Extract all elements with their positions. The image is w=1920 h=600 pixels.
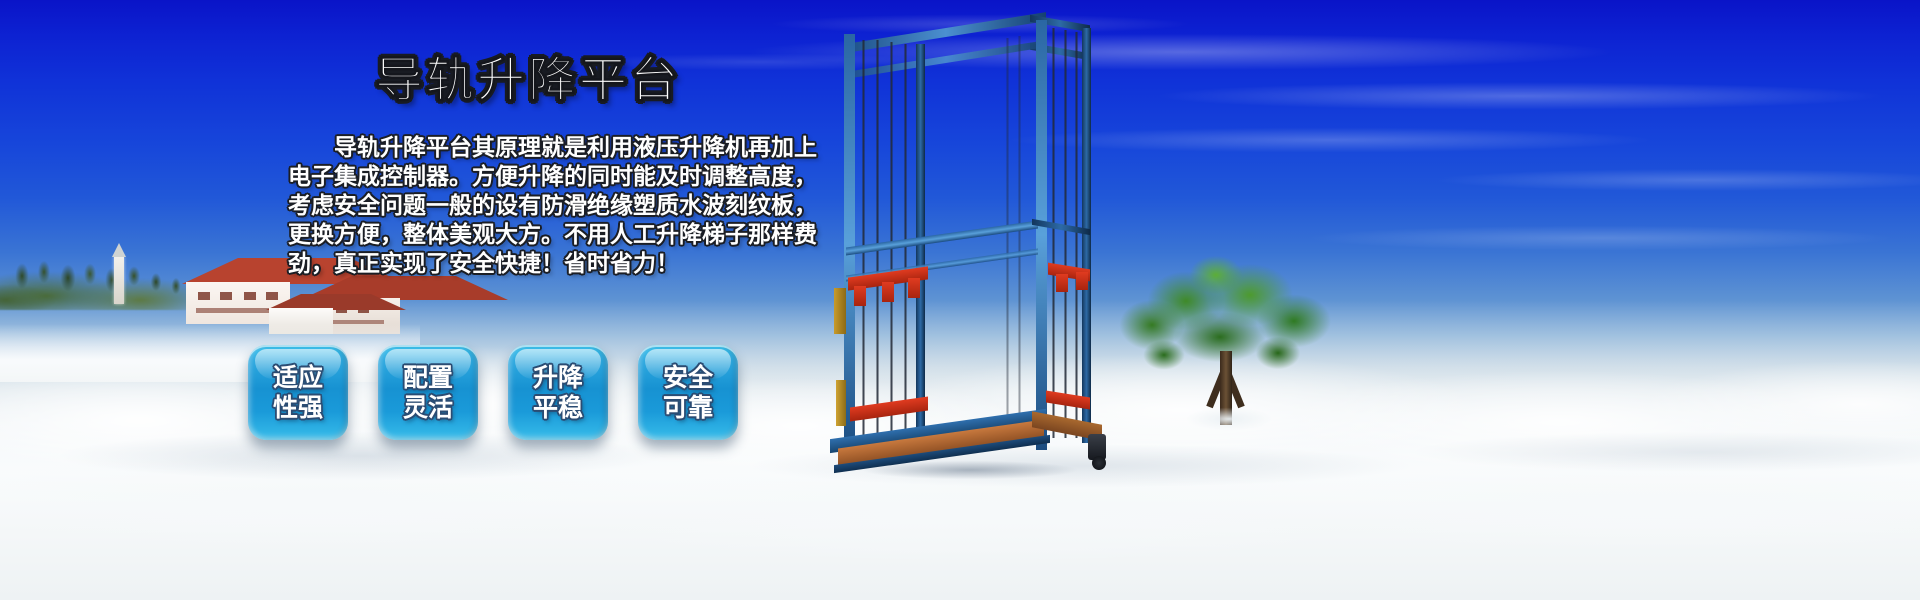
guide-cable (1018, 36, 1021, 440)
product-banner: 导轨升降平台 导轨升降平台其原理就是利用液压升降机再加上 电子集成控制器。方便升… (0, 0, 1920, 600)
carriage-block (908, 278, 920, 298)
feature-badge-line2: 平稳 (533, 393, 583, 423)
mid-beam-front (846, 221, 1038, 256)
feature-badge-line1: 适应 (273, 363, 323, 393)
feature-badge-line2: 性强 (273, 393, 323, 423)
paragraph-line: 电子集成控制器。方便升降的同时能及时调整高度， (288, 163, 788, 192)
guide-cable (1006, 38, 1009, 442)
carriage-block (882, 282, 894, 302)
paragraph-line: 导轨升降平台其原理就是利用液压升降机再加上 (288, 134, 788, 163)
feature-badge-list: 适应 性强 配置 灵活 升降 平稳 安全 可靠 (248, 345, 738, 440)
column-front-right (1036, 20, 1047, 450)
guide-cable (862, 40, 865, 440)
paragraph-line: 劲，真正实现了安全快捷！省时省力！ (288, 250, 788, 279)
description-paragraph: 导轨升降平台其原理就是利用液压升降机再加上 电子集成控制器。方便升降的同时能及时… (288, 134, 788, 279)
page-title: 导轨升降平台 (375, 56, 681, 104)
feature-badge-configuration[interactable]: 配置 灵活 (378, 345, 478, 440)
guide-cable (1075, 32, 1078, 438)
column-rear-right (1082, 28, 1091, 443)
feature-badge-line1: 配置 (403, 363, 453, 393)
feature-badge-line2: 灵活 (403, 393, 453, 423)
feature-badge-smooth-lift[interactable]: 升降 平稳 (508, 345, 608, 440)
carriage-block (1056, 274, 1068, 292)
control-box (834, 288, 846, 334)
lift-platform-product-image (820, 20, 1120, 480)
feature-badge-safety[interactable]: 安全 可靠 (638, 345, 738, 440)
paragraph-line: 考虑安全问题一般的设有防滑绝缘塑质水波刻纹板， (288, 192, 788, 221)
hydraulic-cylinder (836, 380, 846, 426)
guide-cable (1052, 28, 1055, 438)
guide-cable (876, 40, 879, 440)
carriage-block (854, 286, 866, 306)
paragraph-line: 更换方便，整体美观大方。不用人工升降梯子那样费 (288, 221, 788, 250)
feature-badge-line1: 安全 (663, 363, 713, 393)
carriage-block (1076, 272, 1088, 290)
machine-shadow (810, 456, 1130, 484)
feature-badge-line1: 升降 (533, 363, 583, 393)
guide-cable (1064, 30, 1067, 438)
feature-badge-line2: 可靠 (663, 393, 713, 423)
feature-badge-adaptability[interactable]: 适应 性强 (248, 345, 348, 440)
